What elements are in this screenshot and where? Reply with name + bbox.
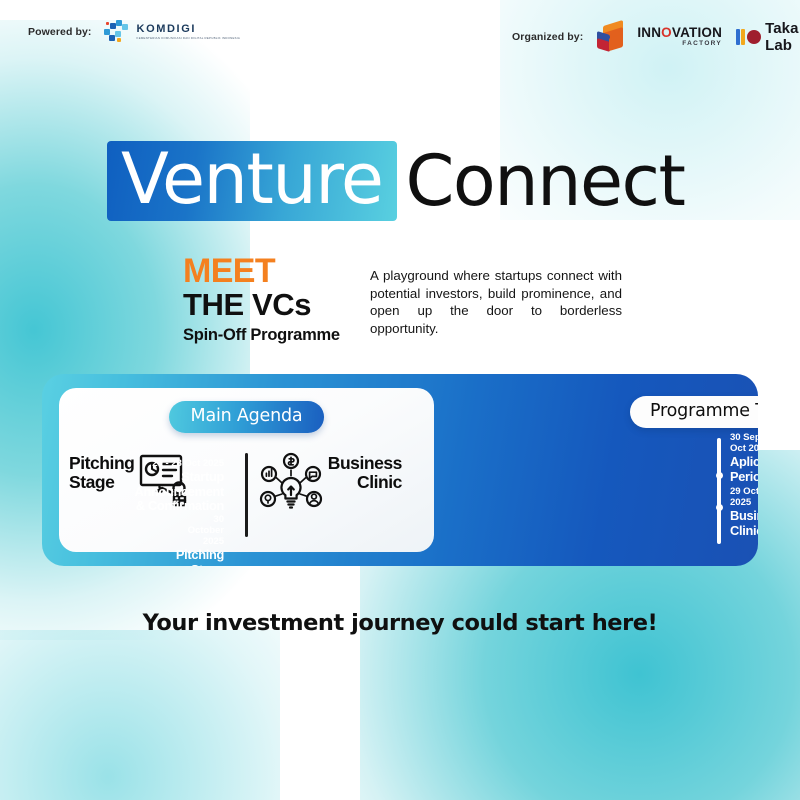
komdigi-name: KOMDIGI bbox=[137, 24, 241, 35]
komdigi-logo: KOMDIGI KEMENTERIAN KOMUNIKASI DAN DIGIT… bbox=[104, 20, 241, 44]
organized-by-group: Organized by: INNOVATION FACTORY Taka La… bbox=[512, 20, 800, 54]
headline-line-3: Spin-Off Programme bbox=[183, 326, 340, 345]
innovation-factory-logo: INNOVATION FACTORY bbox=[595, 22, 722, 52]
komdigi-wordmark: KOMDIGI KEMENTERIAN KOMUNIKASI DAN DIGIT… bbox=[137, 24, 241, 40]
taka-lab-logo: Taka Lab bbox=[736, 20, 800, 54]
page-title: Venture Connect bbox=[107, 141, 684, 221]
timeline-node bbox=[716, 504, 723, 511]
description-text: A playground where startups connect with… bbox=[370, 267, 622, 338]
programme-timeline-pill: Programme Timeline bbox=[630, 396, 758, 428]
headline-block: MEET THE VCs Spin-Off Programme bbox=[183, 255, 340, 345]
tagline-text: Your investment journey could start here… bbox=[0, 610, 800, 636]
main-agenda-pill: Main Agenda bbox=[169, 401, 325, 433]
timeline-item-business-clinic[interactable]: 29 October 2025 Business Clinic bbox=[730, 486, 758, 538]
timeline-item-name: Business Clinic bbox=[730, 509, 758, 538]
organized-by-label: Organized by: bbox=[512, 31, 583, 43]
timeline-item-date: 30 Sept - 22 Oct 2025 bbox=[730, 432, 758, 454]
lightbulb-network-icon bbox=[258, 452, 324, 519]
timeline-axis bbox=[717, 438, 721, 544]
timeline-item-startup-announcement[interactable]: 25 - 28 Oct 2025 Startup Announcement & … bbox=[134, 458, 224, 514]
headline-line-1: MEET bbox=[183, 255, 340, 288]
innovation-factory-wordmark: INNOVATION FACTORY bbox=[637, 26, 722, 48]
main-agenda-pill-label: Main Agenda bbox=[191, 406, 303, 426]
agenda-item-label: Pitching Stage bbox=[69, 452, 134, 492]
agenda-items: Pitching Stage bbox=[59, 452, 434, 552]
programme-banner: Main Agenda Pitching Stage bbox=[42, 374, 758, 566]
timeline-node bbox=[716, 472, 723, 479]
poster-canvas: Powered by: KOMDIGI KEMENTERIAN KOMUNIKA… bbox=[0, 0, 800, 800]
innovation-factory-name: INNOVATION bbox=[637, 26, 722, 40]
timeline-item-date: 29 October 2025 bbox=[730, 486, 758, 508]
timeline-item-name: Startup Announcement & Confirmation bbox=[134, 470, 224, 514]
timeline-item-date: 25 - 28 Oct 2025 bbox=[134, 458, 224, 469]
programme-timeline-pill-label: Programme Timeline bbox=[650, 401, 758, 421]
headline-line-2: THE VCs bbox=[183, 289, 340, 322]
title-word-connect: Connect bbox=[406, 149, 685, 213]
powered-by-group: Powered by: KOMDIGI KEMENTERIAN KOMUNIKA… bbox=[28, 20, 240, 44]
innovation-factory-mark-icon bbox=[595, 22, 629, 52]
timeline-item-application-period[interactable]: 30 Sept - 22 Oct 2025 Aplication Period bbox=[730, 432, 758, 484]
main-agenda-card: Main Agenda Pitching Stage bbox=[59, 388, 434, 552]
programme-timeline: Programme Timeline 30 Sept - 22 Oct 2025… bbox=[442, 374, 758, 566]
taka-lab-name: Taka Lab bbox=[765, 20, 800, 54]
timeline-item-pitching-stage[interactable]: 30 October 2025 Pitching Stage bbox=[176, 514, 224, 566]
innovation-factory-subtitle: FACTORY bbox=[637, 41, 722, 48]
agenda-item-label: Business Clinic bbox=[328, 452, 402, 492]
title-word-venture: Venture bbox=[121, 147, 383, 211]
komdigi-mark-icon bbox=[104, 20, 130, 44]
timeline-item-name: Aplication Period bbox=[730, 455, 758, 484]
agenda-item-business-clinic[interactable]: Business Clinic bbox=[248, 452, 434, 519]
timeline-item-name: Pitching Stage bbox=[176, 548, 224, 566]
taka-lab-mark-icon bbox=[736, 29, 761, 45]
title-highlight-box: Venture bbox=[107, 141, 397, 221]
glow-bottom-left bbox=[0, 630, 280, 800]
timeline-item-date: 30 October 2025 bbox=[176, 514, 224, 547]
powered-by-label: Powered by: bbox=[28, 26, 92, 38]
komdigi-subtitle: KEMENTERIAN KOMUNIKASI DAN DIGITAL REPUB… bbox=[137, 37, 241, 40]
